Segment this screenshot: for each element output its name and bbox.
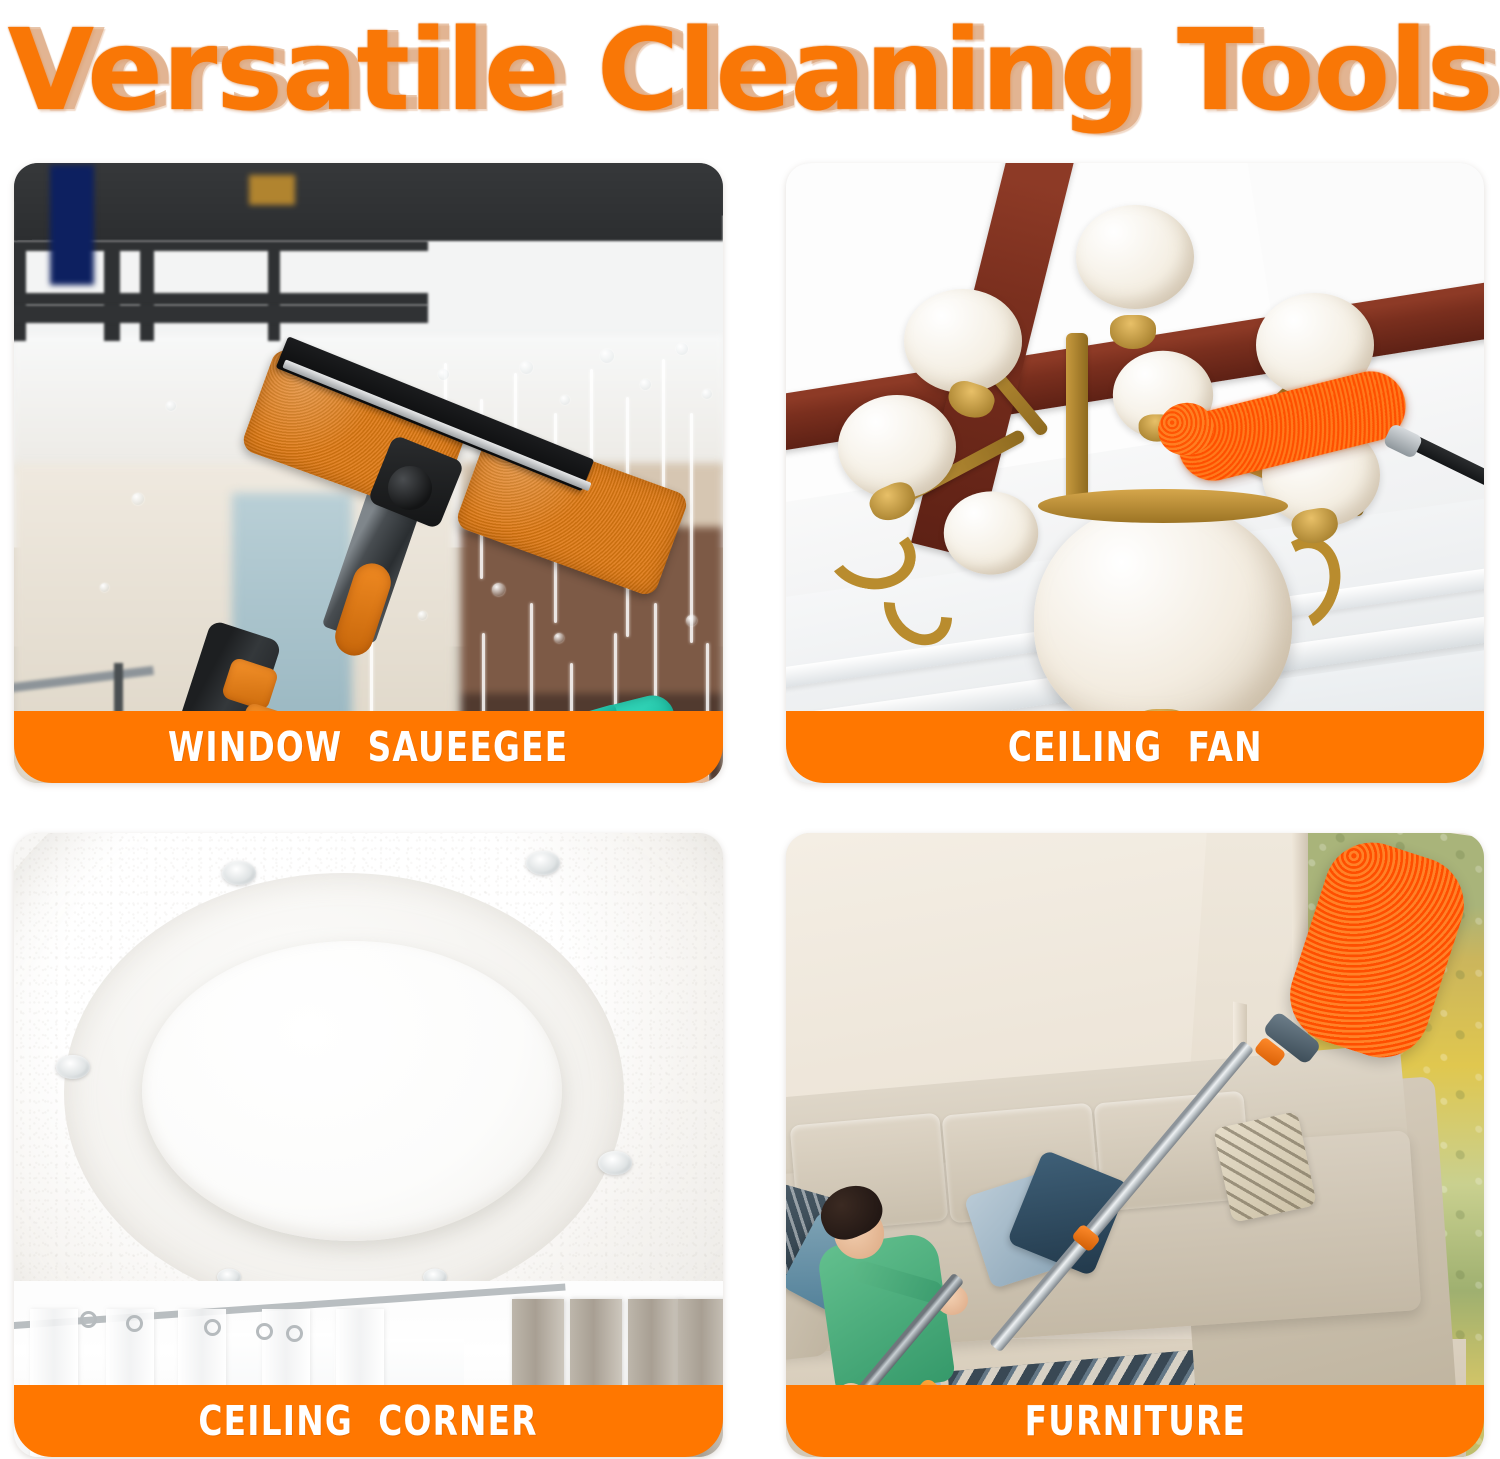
panel-furniture[interactable]: FURNITURE: [786, 833, 1484, 1457]
caption-bar-ceiling-corner: CEILING CORNER: [14, 1385, 723, 1457]
water-droplet: [676, 343, 688, 355]
chandelier-brass-cap: [1110, 315, 1156, 349]
window-blue-panel: [50, 165, 94, 285]
flush-mount-ceiling-light: [142, 941, 562, 1241]
recessed-downlight: [598, 1151, 632, 1175]
water-droplet: [560, 395, 570, 405]
recessed-downlight: [526, 851, 560, 875]
scene-window-squeegee: [14, 163, 723, 783]
water-droplet: [166, 401, 176, 411]
caption-label: FURNITURE: [1024, 1397, 1245, 1445]
water-droplet: [132, 493, 144, 505]
scene-ceiling-corner: [14, 833, 723, 1457]
window-sill: [14, 305, 428, 323]
curtain-grommet: [286, 1325, 303, 1342]
scene-ceiling-fan: [786, 163, 1484, 783]
panel-ceiling-corner[interactable]: CEILING CORNER: [14, 833, 723, 1457]
scene-furniture: [786, 833, 1484, 1457]
curtain-grommet: [256, 1323, 273, 1340]
water-droplet: [702, 389, 712, 399]
water-droplet: [100, 583, 109, 592]
window-amber-light: [249, 175, 295, 205]
water-droplet: [686, 615, 697, 626]
recessed-downlight: [222, 861, 256, 885]
water-droplet: [600, 349, 614, 363]
chandelier-arm: [1066, 333, 1088, 513]
water-droplet: [554, 633, 564, 643]
page-title: Versatile Cleaning Tools: [0, 0, 1500, 146]
water-streak: [690, 413, 693, 643]
water-droplet: [640, 379, 651, 390]
recessed-downlight: [56, 1055, 90, 1079]
caption-label: CEILING FAN: [1008, 723, 1263, 771]
caption-bar-ceiling-fan: CEILING FAN: [786, 711, 1484, 783]
water-droplet: [418, 611, 427, 620]
water-droplet: [438, 369, 449, 380]
curtain-grommet: [80, 1311, 97, 1328]
chandelier-globe: [944, 491, 1038, 574]
panel-window-squeegee[interactable]: WINDOW SAUEEGEE: [14, 163, 723, 783]
curtain-grommet: [126, 1315, 143, 1332]
chandelier-brass-ring: [1038, 489, 1288, 523]
caption-bar-window-squeegee: WINDOW SAUEEGEE: [14, 711, 723, 783]
chandelier-globe: [904, 289, 1022, 393]
caption-label: WINDOW SAUEEGEE: [168, 723, 568, 771]
window-header-band: [14, 163, 723, 241]
squeegee-pivot-knob: [388, 466, 432, 510]
water-droplet: [520, 361, 533, 374]
chandelier-globe: [1076, 205, 1194, 309]
chandelier-bowl: [1034, 501, 1292, 737]
water-droplet: [492, 583, 505, 596]
infographic-page: Versatile Cleaning Tools: [0, 0, 1500, 1459]
caption-label: CEILING CORNER: [199, 1397, 538, 1445]
panel-ceiling-fan[interactable]: CEILING FAN: [786, 163, 1484, 783]
curtain-grommet: [204, 1319, 221, 1336]
caption-bar-furniture: FURNITURE: [786, 1385, 1484, 1457]
